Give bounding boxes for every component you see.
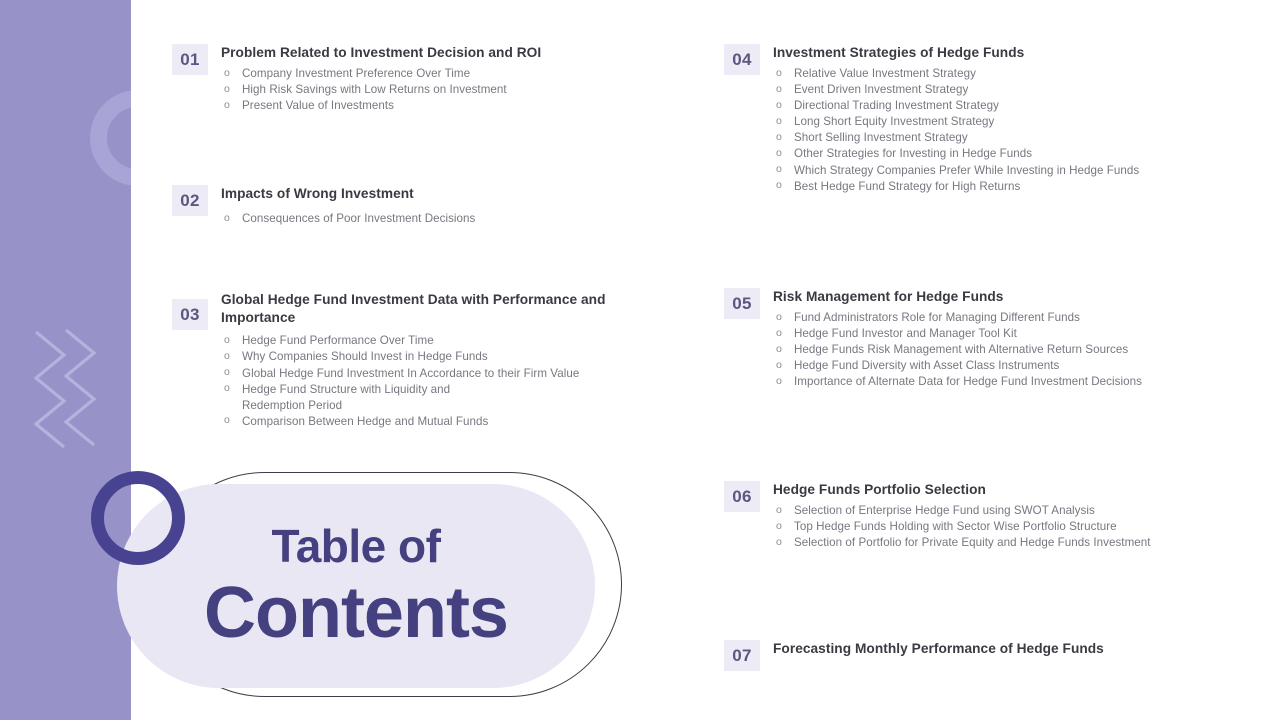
- entry-title[interactable]: Hedge Funds Portfolio Selection: [773, 481, 1214, 499]
- list-item[interactable]: Hedge Fund Diversity with Asset Class In…: [773, 358, 1214, 374]
- list-item[interactable]: Company Investment Preference Over Time: [221, 66, 652, 82]
- entry-number-badge: 06: [724, 481, 760, 512]
- list-item[interactable]: Hedge Fund Performance Over Time: [221, 333, 652, 349]
- entry-title[interactable]: Global Hedge Fund Investment Data with P…: [221, 291, 651, 327]
- entry-body: Risk Management for Hedge Funds Fund Adm…: [773, 288, 1214, 390]
- list-item[interactable]: Best Hedge Fund Strategy for High Return…: [773, 179, 1214, 195]
- entry-body: Problem Related to Investment Decision a…: [221, 44, 652, 114]
- entry-number-badge: 03: [172, 299, 208, 330]
- entry-subitem-list: Consequences of Poor Investment Decision…: [221, 211, 652, 227]
- entry-title[interactable]: Risk Management for Hedge Funds: [773, 288, 1214, 306]
- list-item[interactable]: Selection of Enterprise Hedge Fund using…: [773, 503, 1214, 519]
- list-item[interactable]: Long Short Equity Investment Strategy: [773, 114, 1214, 130]
- list-item[interactable]: Top Hedge Funds Holding with Sector Wise…: [773, 519, 1214, 535]
- circle-outline-icon: [90, 90, 131, 186]
- entry-subitem-list: Company Investment Preference Over Time …: [221, 66, 652, 114]
- entry-body: Global Hedge Fund Investment Data with P…: [221, 291, 652, 430]
- list-item[interactable]: Comparison Between Hedge and Mutual Fund…: [221, 414, 652, 430]
- list-item[interactable]: Hedge Funds Risk Management with Alterna…: [773, 342, 1214, 358]
- list-item[interactable]: Hedge Fund Investor and Manager Tool Kit: [773, 326, 1214, 342]
- list-item[interactable]: Present Value of Investments: [221, 98, 652, 114]
- entry-number-badge: 07: [724, 640, 760, 671]
- entry-body: Hedge Funds Portfolio Selection Selectio…: [773, 481, 1214, 551]
- entry-body: Forecasting Monthly Performance of Hedge…: [773, 640, 1214, 671]
- entry-number-badge: 05: [724, 288, 760, 319]
- list-item[interactable]: Directional Trading Investment Strategy: [773, 98, 1214, 114]
- list-item[interactable]: Event Driven Investment Strategy: [773, 82, 1214, 98]
- entry-subitem-list: Hedge Fund Performance Over Time Why Com…: [221, 333, 652, 429]
- list-item[interactable]: Consequences of Poor Investment Decision…: [221, 211, 652, 227]
- list-item[interactable]: Which Strategy Companies Prefer While In…: [773, 163, 1214, 179]
- list-item[interactable]: Other Strategies for Investing in Hedge …: [773, 146, 1214, 162]
- list-item[interactable]: Selection of Portfolio for Private Equit…: [773, 535, 1214, 551]
- toc-entry-05[interactable]: 05 Risk Management for Hedge Funds Fund …: [724, 288, 1214, 390]
- toc-left-column: 01 Problem Related to Investment Decisio…: [172, 0, 672, 720]
- toc-right-column: 04 Investment Strategies of Hedge Funds …: [724, 0, 1214, 720]
- entry-body: Impacts of Wrong Investment Consequences…: [221, 185, 652, 227]
- entry-number-badge: 04: [724, 44, 760, 75]
- list-item[interactable]: Global Hedge Fund Investment In Accordan…: [221, 366, 652, 382]
- entry-title[interactable]: Forecasting Monthly Performance of Hedge…: [773, 640, 1214, 658]
- accent-circle-icon: [91, 471, 185, 565]
- entry-subitem-list: Fund Administrators Role for Managing Di…: [773, 310, 1214, 390]
- zigzag-chevron-icon: [14, 322, 126, 452]
- toc-entry-04[interactable]: 04 Investment Strategies of Hedge Funds …: [724, 44, 1214, 195]
- toc-entry-03[interactable]: 03 Global Hedge Fund Investment Data wit…: [172, 291, 652, 430]
- list-item[interactable]: Hedge Fund Structure with Liquidity and …: [221, 382, 652, 414]
- entry-title[interactable]: Problem Related to Investment Decision a…: [221, 44, 652, 62]
- toc-entry-07[interactable]: 07 Forecasting Monthly Performance of He…: [724, 640, 1214, 671]
- entry-title[interactable]: Investment Strategies of Hedge Funds: [773, 44, 1214, 62]
- entry-number-badge: 01: [172, 44, 208, 75]
- entry-body: Investment Strategies of Hedge Funds Rel…: [773, 44, 1214, 195]
- decorative-sidebar: [0, 0, 131, 720]
- entry-title[interactable]: Impacts of Wrong Investment: [221, 185, 652, 203]
- list-item[interactable]: Short Selling Investment Strategy: [773, 130, 1214, 146]
- list-item[interactable]: Importance of Alternate Data for Hedge F…: [773, 374, 1214, 390]
- entry-subitem-list: Selection of Enterprise Hedge Fund using…: [773, 503, 1214, 551]
- list-item[interactable]: High Risk Savings with Low Returns on In…: [221, 82, 652, 98]
- entry-number-badge: 02: [172, 185, 208, 216]
- list-item[interactable]: Why Companies Should Invest in Hedge Fun…: [221, 349, 652, 365]
- toc-entry-01[interactable]: 01 Problem Related to Investment Decisio…: [172, 44, 652, 114]
- list-item[interactable]: Fund Administrators Role for Managing Di…: [773, 310, 1214, 326]
- toc-entry-06[interactable]: 06 Hedge Funds Portfolio Selection Selec…: [724, 481, 1214, 551]
- entry-subitem-list: Relative Value Investment Strategy Event…: [773, 66, 1214, 194]
- toc-entry-02[interactable]: 02 Impacts of Wrong Investment Consequen…: [172, 185, 652, 227]
- list-item[interactable]: Relative Value Investment Strategy: [773, 66, 1214, 82]
